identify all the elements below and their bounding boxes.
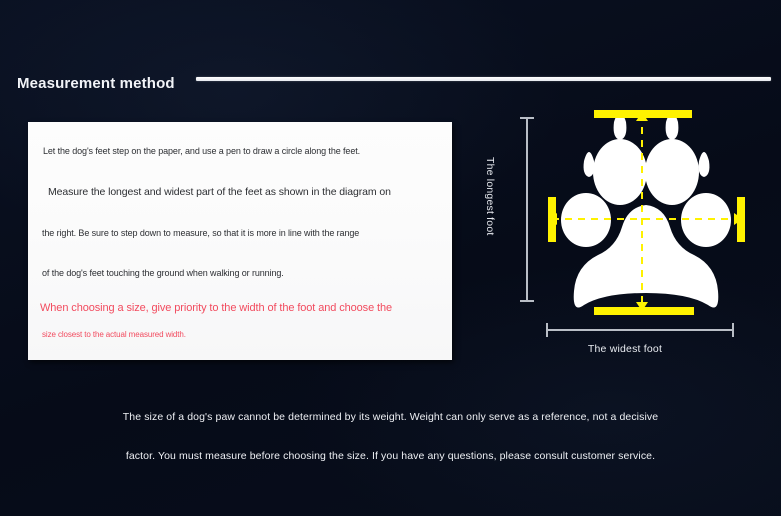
arrow-left-icon [548, 213, 557, 225]
instruction-line-4: of the dog's feet touching the ground wh… [42, 268, 284, 278]
page-root: Measurement method Let the dog's feet st… [0, 0, 781, 516]
instruction-line-1: Let the dog's feet step on the paper, an… [43, 146, 360, 156]
width-dashed-line [552, 218, 741, 220]
claw-far-right [699, 152, 710, 177]
length-dashed-line [641, 114, 643, 311]
instruction-line-2: Measure the longest and widest part of t… [48, 186, 391, 198]
paw-measurement-diagram: The longest foot [480, 85, 770, 375]
header: Measurement method [0, 30, 781, 70]
claw-far-left [584, 152, 595, 177]
arrow-down-icon [636, 302, 648, 311]
instruction-card: Let the dog's feet step on the paper, an… [28, 122, 452, 360]
toe-outer-left [561, 193, 611, 247]
footer-note-line-1: The size of a dog's paw cannot be determ… [0, 411, 781, 423]
toe-inner-right [645, 139, 699, 205]
instruction-highlight-line-2: size closest to the actual measured widt… [42, 330, 186, 339]
page-title: Measurement method [17, 75, 175, 92]
title-divider [196, 77, 771, 81]
widest-foot-caliper [546, 323, 734, 337]
widest-foot-label: The widest foot [480, 343, 770, 355]
toe-inner-left [593, 139, 647, 205]
caliper-stem [546, 329, 734, 331]
toe-outer-right [681, 193, 731, 247]
instruction-highlight-line-1: When choosing a size, give priority to t… [40, 302, 392, 314]
footer-note-line-2: factor. You must measure before choosing… [0, 450, 781, 462]
caliper-cap-right [732, 323, 734, 337]
instruction-line-3: the right. Be sure to step down to measu… [42, 228, 359, 238]
arrow-up-icon [636, 112, 648, 121]
caliper-cap-left [546, 323, 548, 337]
arrow-right-icon [734, 213, 743, 225]
